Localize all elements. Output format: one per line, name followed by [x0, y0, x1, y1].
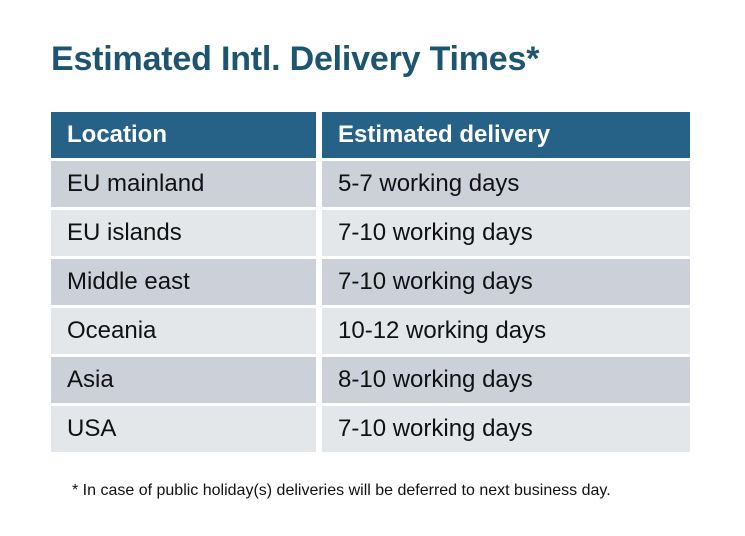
table-row: Asia 8-10 working days	[51, 357, 690, 403]
table-row: EU mainland 5-7 working days	[51, 161, 690, 207]
cell-estimated-delivery: 8-10 working days	[322, 357, 690, 403]
cell-location: EU islands	[51, 210, 316, 256]
cell-estimated-delivery: 7-10 working days	[322, 406, 690, 452]
cell-location: Oceania	[51, 308, 316, 354]
table-row: USA 7-10 working days	[51, 406, 690, 452]
delivery-times-table: Location Estimated delivery EU mainland …	[51, 112, 690, 452]
cell-estimated-delivery: 5-7 working days	[322, 161, 690, 207]
page-title: Estimated Intl. Delivery Times*	[51, 38, 539, 80]
table-row: Oceania 10-12 working days	[51, 308, 690, 354]
delivery-times-page: Estimated Intl. Delivery Times* Location…	[0, 0, 745, 536]
cell-estimated-delivery: 10-12 working days	[322, 308, 690, 354]
cell-location: Middle east	[51, 259, 316, 305]
column-header-estimated-delivery: Estimated delivery	[322, 112, 690, 158]
cell-location: Asia	[51, 357, 316, 403]
cell-location: USA	[51, 406, 316, 452]
footnote-text: * In case of public holiday(s) deliverie…	[72, 481, 611, 501]
column-header-location: Location	[51, 112, 316, 158]
cell-location: EU mainland	[51, 161, 316, 207]
table-row: EU islands 7-10 working days	[51, 210, 690, 256]
cell-estimated-delivery: 7-10 working days	[322, 210, 690, 256]
table-header-row: Location Estimated delivery	[51, 112, 690, 158]
cell-estimated-delivery: 7-10 working days	[322, 259, 690, 305]
table-row: Middle east 7-10 working days	[51, 259, 690, 305]
